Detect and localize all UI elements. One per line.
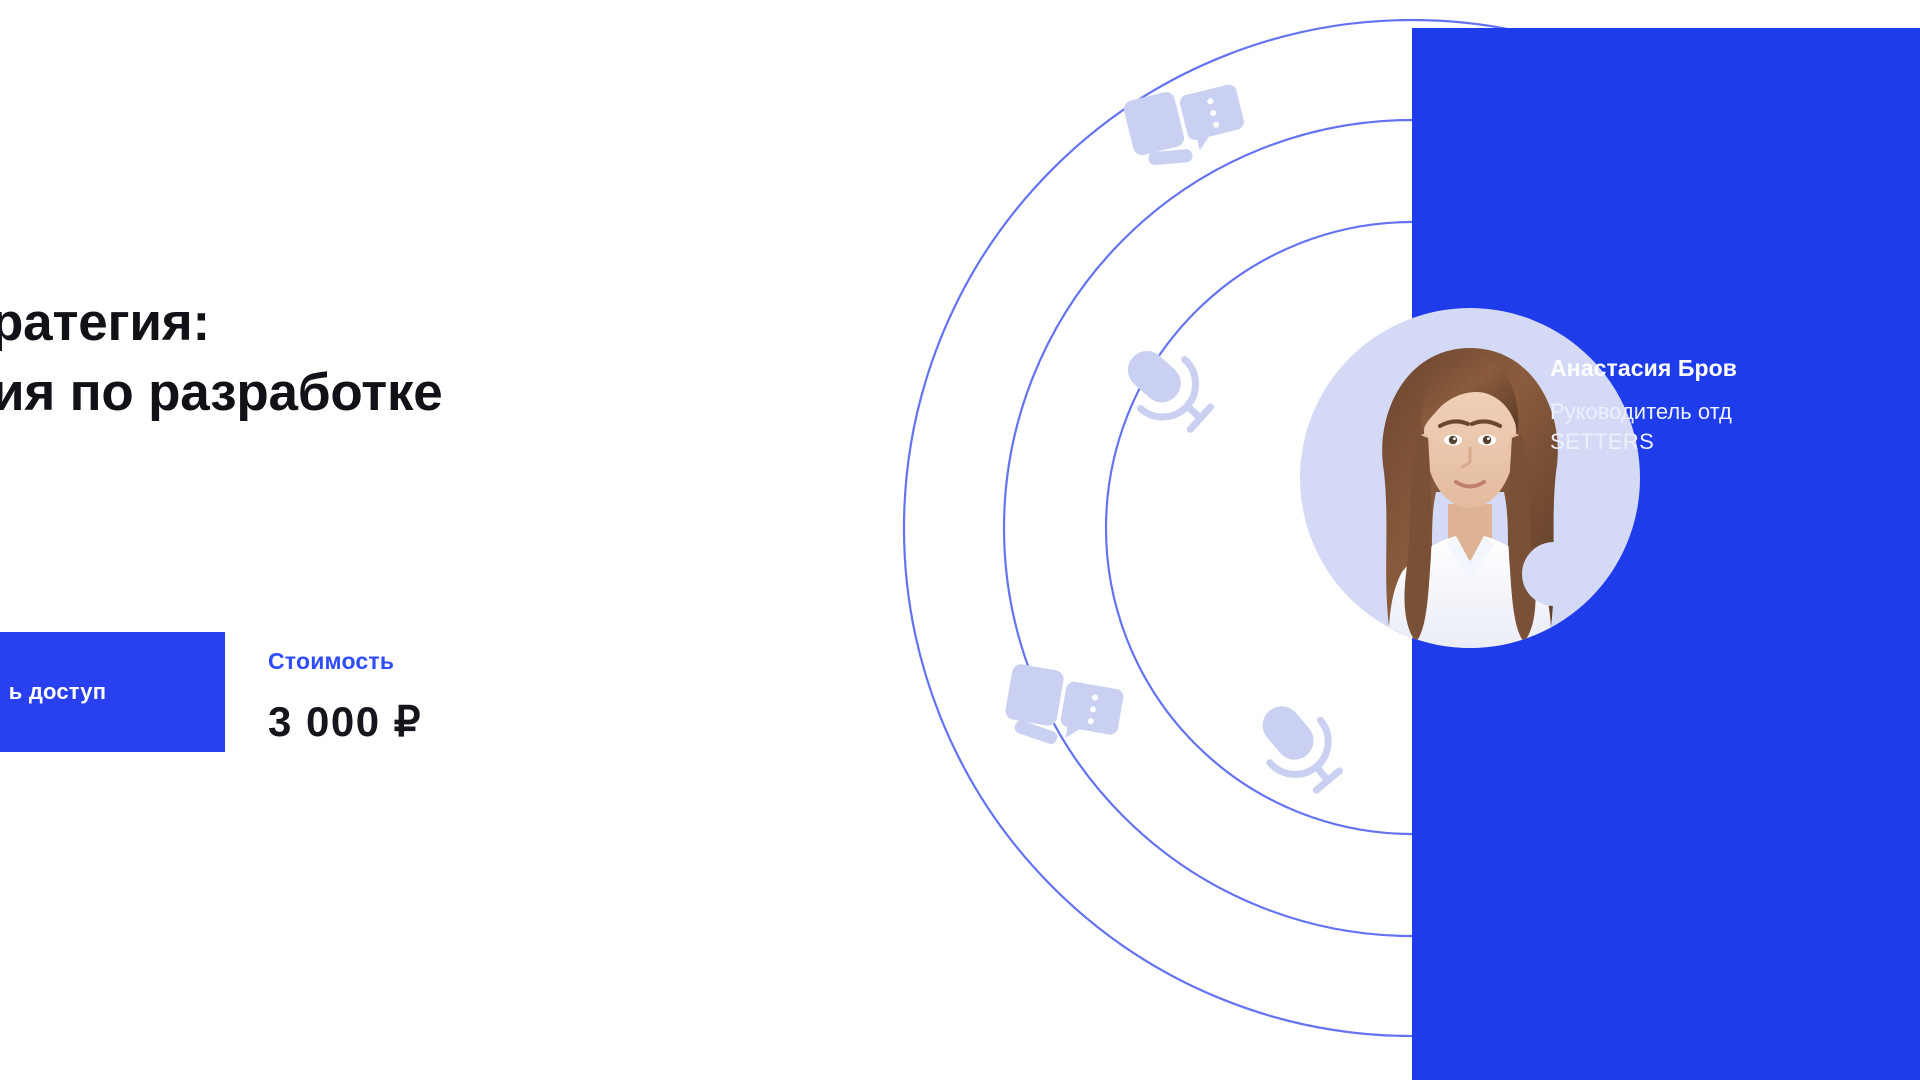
microphone-icon	[1228, 675, 1370, 818]
laptop-chat-icon	[997, 657, 1127, 768]
headline-line-1: I-стратегия:	[0, 293, 210, 352]
speaker-role: Руководитель отд	[1550, 396, 1920, 427]
avatar-badge	[1522, 542, 1586, 606]
headline-line-2: укция по разработке	[0, 358, 664, 428]
microphone-icon	[1096, 317, 1239, 459]
get-access-button[interactable]: ь доступ	[0, 632, 225, 752]
price-block: Стоимость 3 000 ₽	[268, 648, 422, 746]
price-label: Стоимость	[268, 648, 422, 675]
speaker-company: SETTERS	[1550, 429, 1920, 455]
hero-section: I-стратегия: укция по разработке ь досту…	[0, 0, 1920, 1080]
speaker-name: Анастасия Бров	[1550, 355, 1920, 382]
page-title: I-стратегия: укция по разработке	[0, 288, 664, 428]
price-value: 3 000 ₽	[268, 697, 422, 746]
laptop-chat-icon	[1119, 69, 1254, 186]
speaker-info: Анастасия Бров Руководитель отд SETTERS	[1550, 355, 1920, 455]
